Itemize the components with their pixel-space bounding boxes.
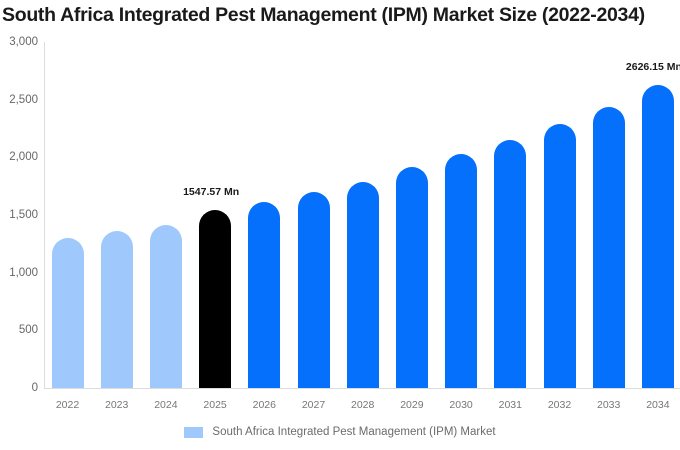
y-axis-tick-label: 3,000 xyxy=(0,36,38,48)
bar-2034[interactable] xyxy=(642,85,674,388)
bar-2033[interactable] xyxy=(593,107,625,388)
chart-legend: South Africa Integrated Pest Management … xyxy=(0,426,680,439)
bar-2030[interactable] xyxy=(445,154,477,388)
chart-title: South Africa Integrated Pest Management … xyxy=(2,2,680,28)
bar-2028[interactable] xyxy=(347,182,379,388)
y-axis-tick-label: 1,500 xyxy=(0,209,38,221)
y-axis-tick-label: 1,000 xyxy=(0,267,38,279)
plot-area xyxy=(44,42,680,388)
bar-2031[interactable] xyxy=(494,140,526,388)
legend-swatch-icon xyxy=(184,427,203,438)
bar-value-label-2025: 1547.57 Mn xyxy=(183,186,239,198)
legend-label: South Africa Integrated Pest Management … xyxy=(212,426,495,439)
bar-2032[interactable] xyxy=(544,124,576,388)
x-axis-line xyxy=(44,388,680,389)
bar-2022[interactable] xyxy=(52,238,84,388)
bar-2027[interactable] xyxy=(298,192,330,388)
bar-2025[interactable] xyxy=(199,210,231,388)
bar-2024[interactable] xyxy=(150,225,182,388)
bar-chart: South Africa Integrated Pest Management … xyxy=(0,0,680,450)
y-axis-tick-label: 2,500 xyxy=(0,94,38,106)
y-axis-tick-label: 0 xyxy=(0,382,38,394)
x-axis-tick-label: 2034 xyxy=(628,399,680,411)
bar-value-label-2034: 2626.15 Mn xyxy=(626,61,680,73)
bar-2029[interactable] xyxy=(396,167,428,388)
bar-2026[interactable] xyxy=(248,202,280,388)
bar-2023[interactable] xyxy=(101,231,133,388)
y-axis-tick-label: 2,000 xyxy=(0,151,38,163)
y-axis-tick-label: 500 xyxy=(0,324,38,336)
